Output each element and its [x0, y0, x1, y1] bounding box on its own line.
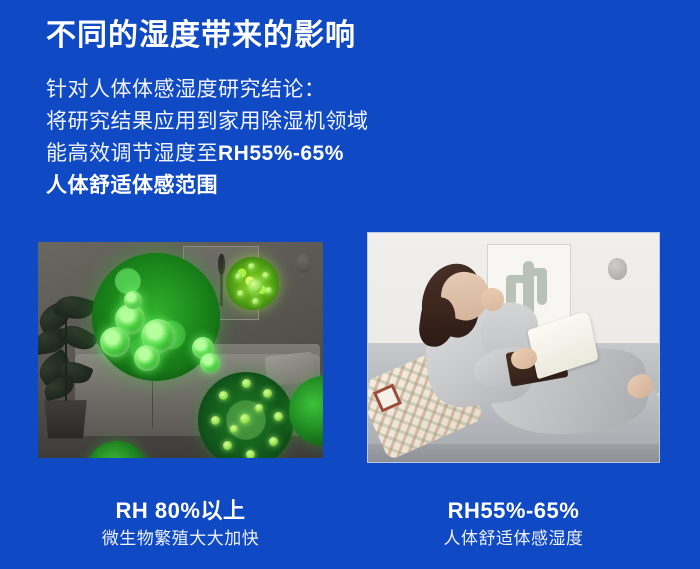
- microbe-spike: [219, 391, 228, 400]
- body-line-2: 将研究结果应用到家用除湿机领域: [46, 106, 369, 138]
- infographic-poster: 不同的湿度带来的影响 针对人体体感湿度研究结论： 将研究结果应用到家用除湿机领域…: [0, 0, 700, 569]
- body-line-3-prefix: 能高效调节湿度至: [46, 142, 218, 165]
- caption-left-title: RH 80%以上: [38, 496, 323, 526]
- plant-stem: [65, 319, 67, 402]
- microbe-spike: [242, 379, 251, 388]
- body-copy: 针对人体体感湿度研究结论： 将研究结果应用到家用除湿机领域 能高效调节湿度至RH…: [46, 74, 369, 202]
- microbe-spike: [263, 389, 272, 398]
- right-wall-knob-icon: [608, 258, 627, 280]
- caption-comfort-humidity: RH55%-65% 人体舒适体感湿度: [367, 496, 660, 552]
- microbe-small: [226, 257, 279, 310]
- microbe-spike: [274, 412, 283, 421]
- caption-right-title: RH55%-65%: [367, 496, 660, 526]
- microbe-virus: [198, 372, 294, 458]
- microbe-spike: [235, 273, 242, 280]
- caption-high-humidity: RH 80%以上 微生物繁殖大大加快: [38, 496, 323, 552]
- microbe-spike: [230, 425, 238, 433]
- left-plant-pot: [43, 400, 89, 438]
- cactus-icon: [506, 275, 530, 283]
- microbe-spike: [211, 416, 220, 425]
- microbe-core: [248, 279, 262, 293]
- body-line-3: 能高效调节湿度至RH55%-65%: [46, 138, 369, 170]
- microbe-spike: [252, 298, 259, 305]
- caption-left-subtitle: 微生物繁殖大大加快: [38, 526, 323, 552]
- microbe-blob: [134, 345, 160, 371]
- microbe-spike: [255, 404, 263, 412]
- microbe-spike: [246, 450, 255, 458]
- microbe-spike: [248, 263, 255, 270]
- microbe-blob: [100, 327, 130, 357]
- body-line-1: 针对人体体感湿度研究结论：: [46, 74, 369, 106]
- page-title: 不同的湿度带来的影响: [46, 17, 356, 55]
- microbe-large: [92, 253, 220, 381]
- image-panel-comfort-humidity: [367, 232, 660, 463]
- image-panel-high-humidity: [38, 242, 323, 458]
- body-line-3-highlight: RH55%-65%: [218, 142, 344, 165]
- cactus-icon: [527, 268, 547, 276]
- microbe-spike: [269, 437, 278, 446]
- microbe-blob: [200, 353, 220, 373]
- microbe-spike: [262, 272, 269, 279]
- microbe-spike: [223, 441, 232, 450]
- microbe-core: [240, 414, 250, 424]
- left-wall-knob-icon: [296, 253, 312, 273]
- caption-right-subtitle: 人体舒适体感湿度: [367, 526, 660, 552]
- microbe-spike: [237, 290, 244, 297]
- microbe-spike: [265, 287, 272, 294]
- body-line-4: 人体舒适体感范围: [46, 170, 369, 202]
